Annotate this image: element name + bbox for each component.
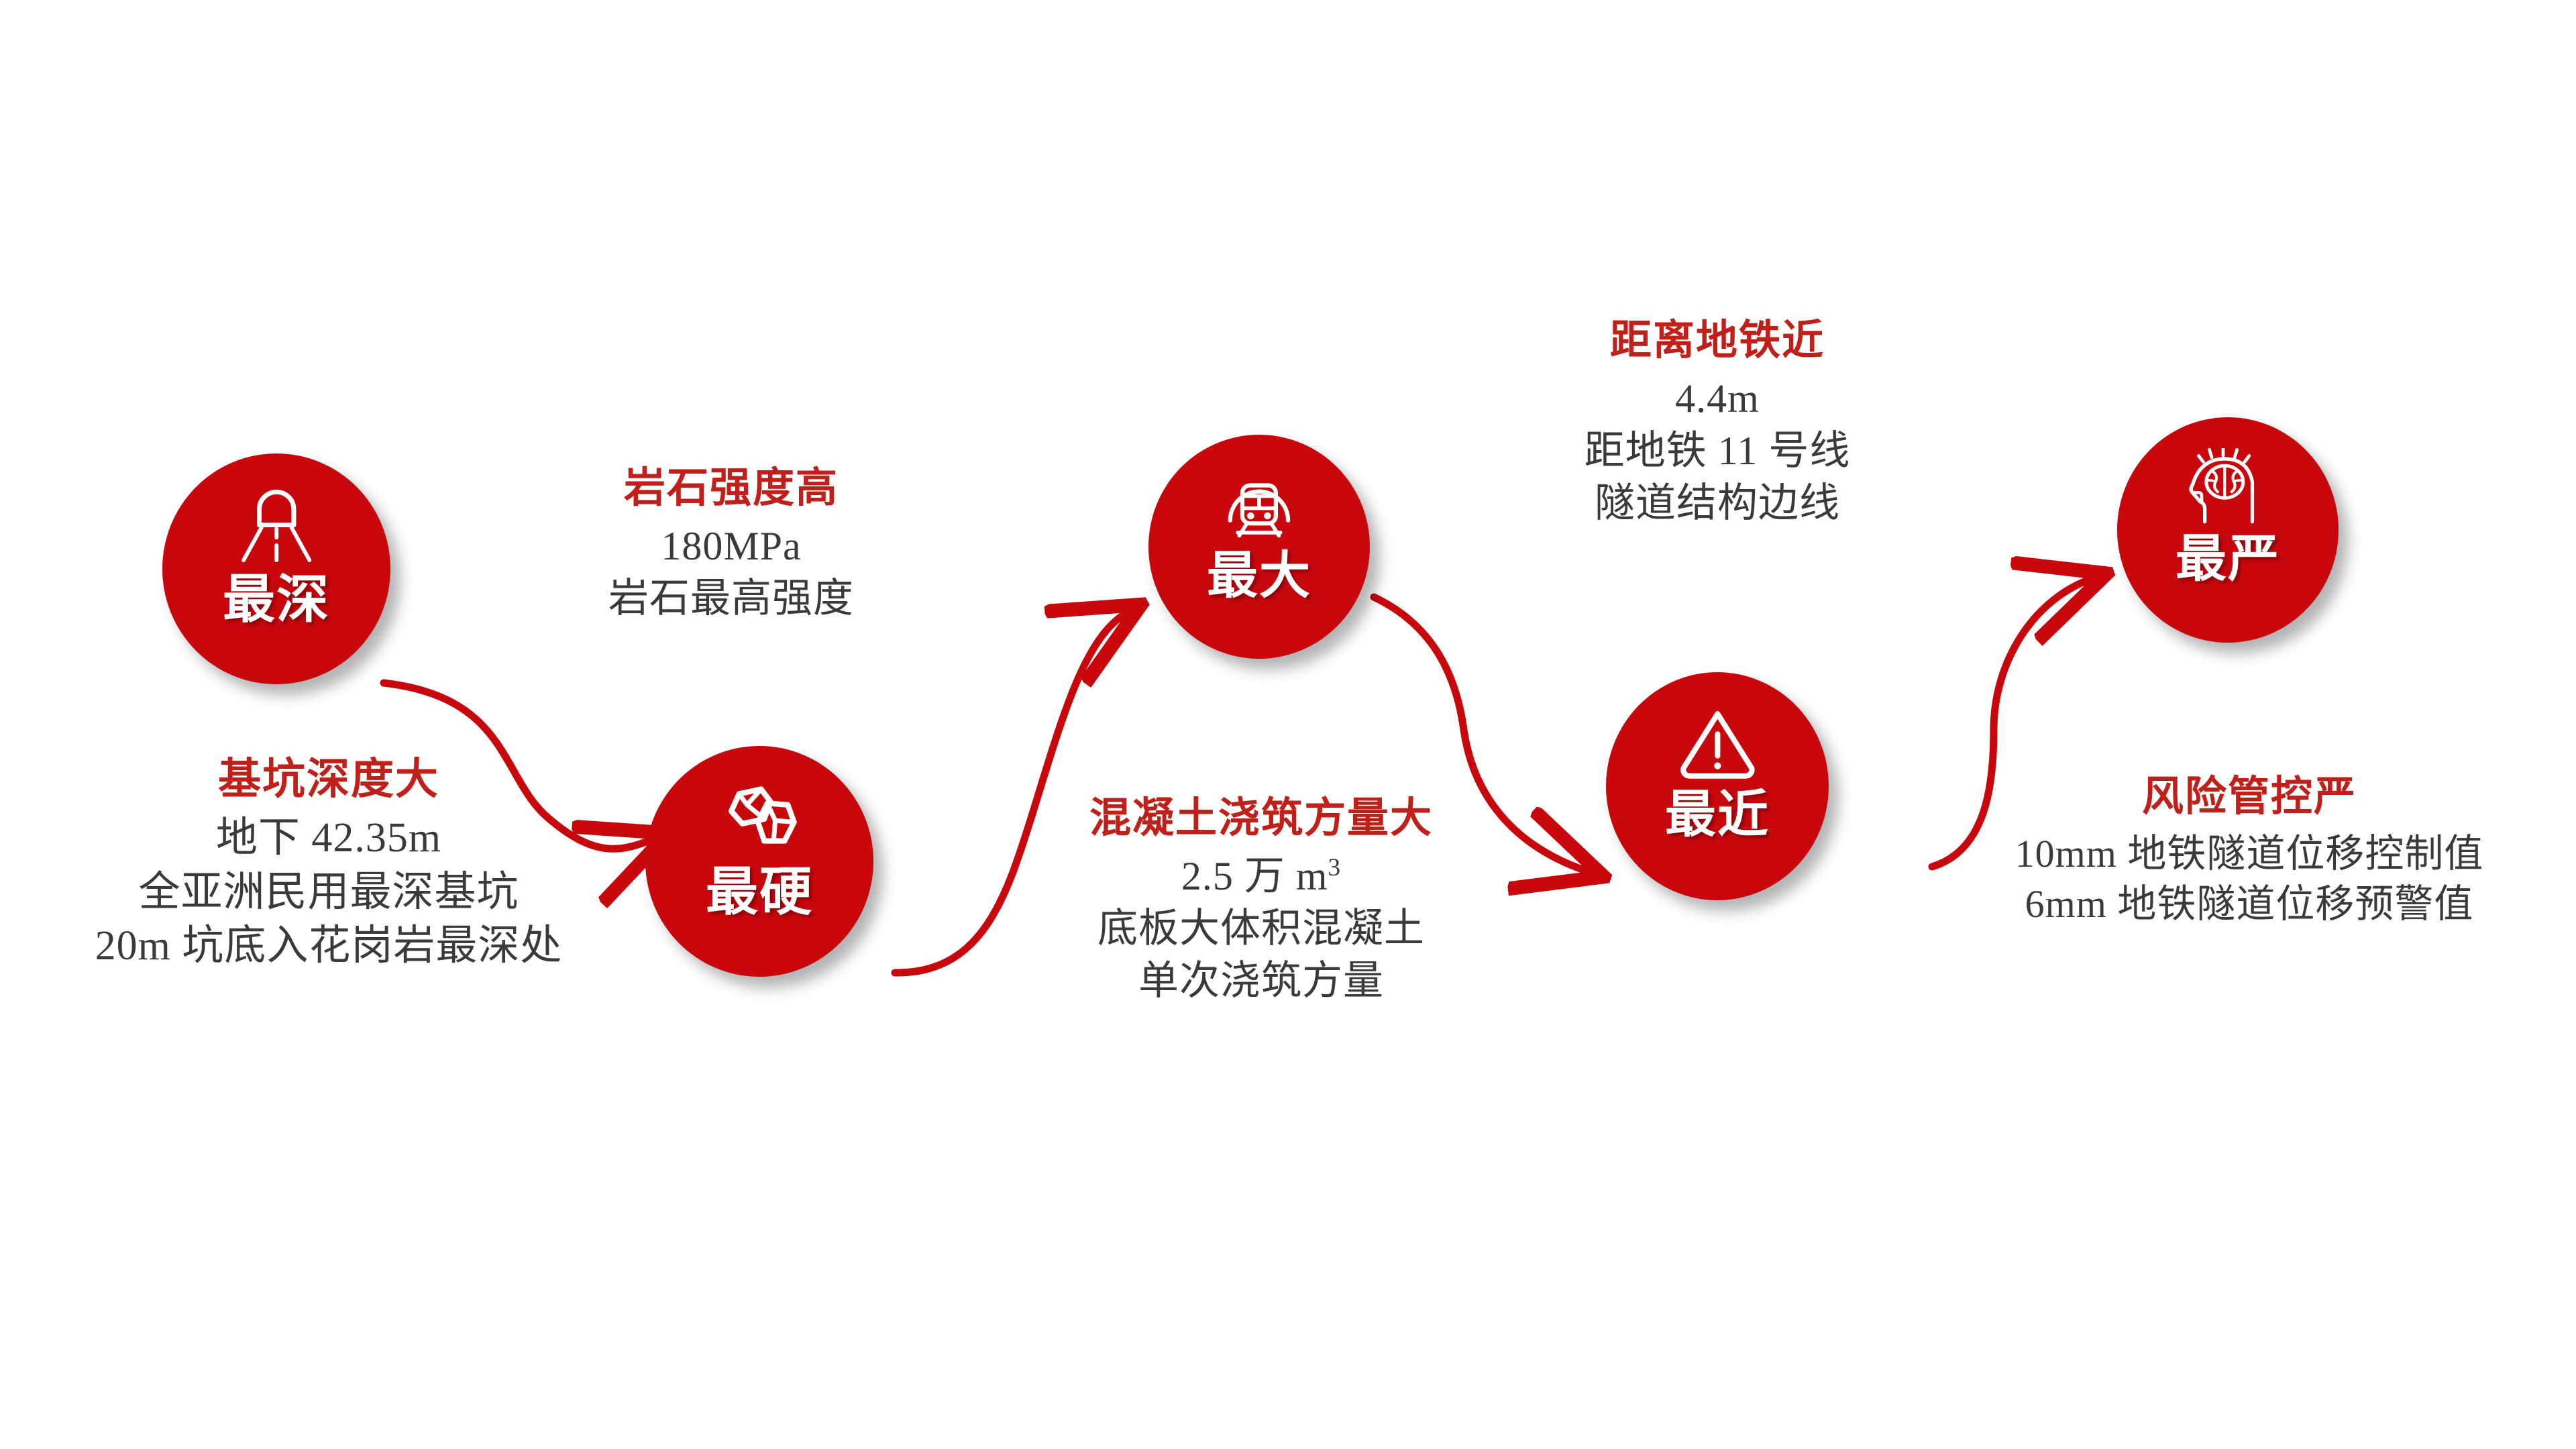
node-label-deepest: 最深 xyxy=(223,573,330,625)
connector-layer xyxy=(0,0,2576,1449)
node-hardest[interactable]: 最硬 xyxy=(645,746,873,977)
block-line-pit-depth-2: 全亚洲民用最深基坑 xyxy=(0,865,657,920)
node-largest[interactable]: 最大 xyxy=(1148,435,1370,659)
block-metro-distance: 距离地铁近 4.4m 距地铁 11 号线 隧道结构边线 xyxy=(1483,314,1952,529)
block-line-concrete-volume-2: 底板大体积混凝土 xyxy=(993,902,1529,955)
block-pit-depth: 基坑深度大 地下 42.35m 全亚洲民用最深基坑 20m 坑底入花岗岩最深处 xyxy=(0,751,657,973)
rocks-icon xyxy=(707,778,812,857)
node-label-largest: 最大 xyxy=(1207,551,1311,602)
block-heading-rock-strength: 岩石强度高 xyxy=(537,462,926,516)
block-line-metro-distance-3: 隧道结构边线 xyxy=(1483,477,1952,529)
infographic-canvas: 最深 最硬 xyxy=(0,0,2576,1449)
block-line-rock-strength-2: 岩石最高强度 xyxy=(537,572,926,625)
block-line-pit-depth-3: 20m 坑底入花岗岩最深处 xyxy=(0,919,657,973)
head-brain-icon xyxy=(2177,448,2279,525)
block-heading-metro-distance: 距离地铁近 xyxy=(1483,314,1952,368)
block-line-risk-control-1: 10mm 地铁隧道位移控制值 xyxy=(1923,828,2576,879)
tunnel-road-icon xyxy=(224,486,329,564)
block-line-metro-distance-1: 4.4m xyxy=(1483,372,1952,425)
node-label-closest: 最近 xyxy=(1665,790,1770,841)
node-label-strictest: 最严 xyxy=(2176,534,2280,585)
warning-triangle-icon xyxy=(1666,703,1769,781)
block-line-rock-strength-1: 180MPa xyxy=(537,520,926,572)
block-heading-concrete-volume: 混凝土浇筑方量大 xyxy=(993,792,1529,846)
block-risk-control: 风险管控严 10mm 地铁隧道位移控制值 6mm 地铁隧道位移预警值 xyxy=(1923,770,2576,929)
block-line-metro-distance-2: 距地铁 11 号线 xyxy=(1483,425,1952,477)
block-heading-risk-control: 风险管控严 xyxy=(1923,770,2576,824)
node-strictest[interactable]: 最严 xyxy=(2117,417,2339,643)
block-rock-strength: 岩石强度高 180MPa 岩石最高强度 xyxy=(537,462,926,625)
block-line-concrete-volume-1: 2.5 万 m3 xyxy=(993,850,1529,902)
block-line-risk-control-2: 6mm 地铁隧道位移预警值 xyxy=(1923,879,2576,929)
block-heading-pit-depth: 基坑深度大 xyxy=(0,751,657,807)
metro-train-icon xyxy=(1208,466,1310,542)
node-closest[interactable]: 最近 xyxy=(1606,672,1829,900)
node-label-hardest: 最硬 xyxy=(706,865,813,918)
block-line-concrete-volume-3: 单次浇筑方量 xyxy=(993,955,1529,1007)
block-concrete-volume: 混凝土浇筑方量大 2.5 万 m3 底板大体积混凝土 单次浇筑方量 xyxy=(993,792,1529,1007)
node-deepest[interactable]: 最深 xyxy=(162,453,390,684)
block-line-pit-depth-1: 地下 42.35m xyxy=(0,811,657,865)
